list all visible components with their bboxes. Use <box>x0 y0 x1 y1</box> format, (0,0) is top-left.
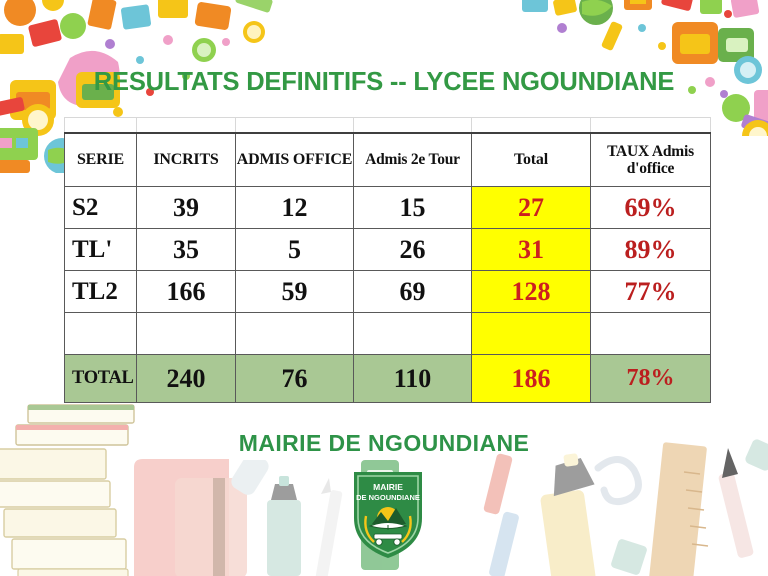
slide-canvas: RESULTATS DEFINITIFS -- LYCEE NGOUNDIANE… <box>0 0 768 576</box>
page-subtitle: MAIRIE DE NGOUNDIANE <box>0 430 768 457</box>
cell-admis-office: 5 <box>236 229 354 271</box>
header-taux-admis-doffice: TAUX Admis d'office <box>591 133 711 187</box>
cell-admis-office: 59 <box>236 271 354 313</box>
header-serie: SERIE <box>65 133 137 187</box>
crest-line1: MAIRIE <box>373 482 403 492</box>
table-row: S2 39 12 15 27 69% <box>65 187 711 229</box>
cell-total-total: 186 <box>472 355 591 403</box>
cell-admis-2e-tour <box>354 313 472 355</box>
cell-total-label: TOTAL <box>65 355 137 403</box>
cell-incrits: 39 <box>137 187 236 229</box>
cell-serie <box>65 313 137 355</box>
cell-total-admis-2e-tour: 110 <box>354 355 472 403</box>
cell-serie: TL' <box>65 229 137 271</box>
stack-of-books-illustration <box>0 397 229 576</box>
header-total: Total <box>472 133 591 187</box>
table-total-row: TOTAL 240 76 110 186 78% <box>65 355 711 403</box>
results-table-container: SERIE INCRITS ADMIS OFFICE Admis 2e Tour… <box>64 117 710 403</box>
cell-taux <box>591 313 711 355</box>
table-row: TL2 166 59 69 128 77% <box>65 271 711 313</box>
header-incrits: INCRITS <box>137 133 236 187</box>
cell-taux: 77% <box>591 271 711 313</box>
header-admis-office: ADMIS OFFICE <box>236 133 354 187</box>
cell-admis-office: 12 <box>236 187 354 229</box>
table-blank-row <box>65 313 711 355</box>
cell-total-admis-office: 76 <box>236 355 354 403</box>
table-spacer-row <box>65 118 711 134</box>
crest-line2: DE NGOUNDIANE <box>356 493 420 502</box>
cell-admis-2e-tour: 26 <box>354 229 472 271</box>
cell-taux: 69% <box>591 187 711 229</box>
cell-total: 31 <box>472 229 591 271</box>
cell-taux: 89% <box>591 229 711 271</box>
cell-admis-office <box>236 313 354 355</box>
cell-incrits: 35 <box>137 229 236 271</box>
cell-admis-2e-tour: 69 <box>354 271 472 313</box>
header-admis-2e-tour: Admis 2e Tour <box>354 133 472 187</box>
page-title: RESULTATS DEFINITIFS -- LYCEE NGOUNDIANE <box>0 68 768 97</box>
cell-total-taux: 78% <box>591 355 711 403</box>
mairie-de-ngoundiane-crest-icon: MAIRIE DE NGOUNDIANE <box>350 468 426 560</box>
cell-total <box>472 313 591 355</box>
cell-serie: S2 <box>65 187 137 229</box>
cell-serie: TL2 <box>65 271 137 313</box>
cell-incrits: 166 <box>137 271 236 313</box>
table-row: TL' 35 5 26 31 89% <box>65 229 711 271</box>
cell-total-incrits: 240 <box>137 355 236 403</box>
table-header-row: SERIE INCRITS ADMIS OFFICE Admis 2e Tour… <box>65 133 711 187</box>
cell-admis-2e-tour: 15 <box>354 187 472 229</box>
cell-incrits <box>137 313 236 355</box>
results-table: SERIE INCRITS ADMIS OFFICE Admis 2e Tour… <box>64 117 711 403</box>
cell-total: 128 <box>472 271 591 313</box>
cell-total: 27 <box>472 187 591 229</box>
